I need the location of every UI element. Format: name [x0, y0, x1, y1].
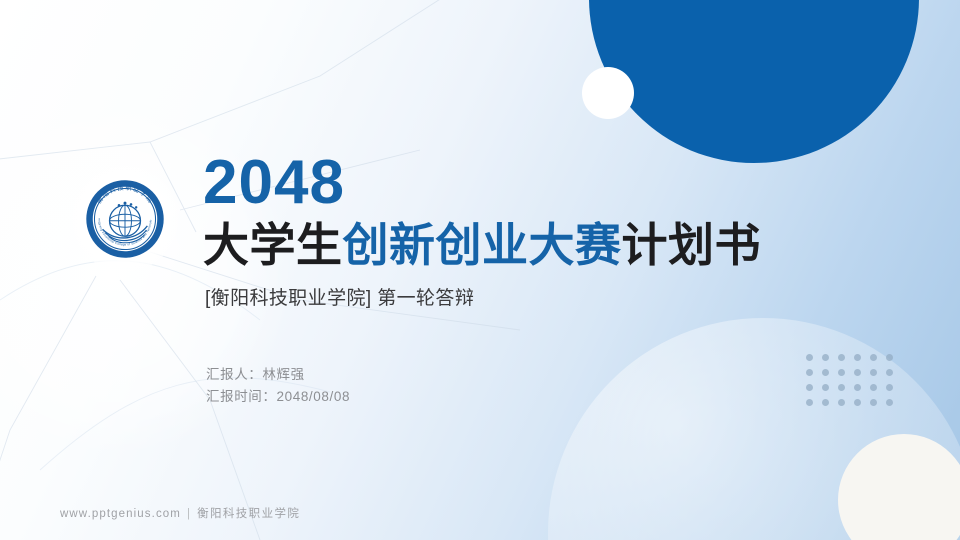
white-circle-decoration — [582, 67, 634, 119]
footer: www.pptgenius.com|衡阳科技职业学院 — [60, 506, 300, 522]
footer-organization: 衡阳科技职业学院 — [197, 508, 300, 520]
footer-separator: | — [187, 508, 191, 520]
school-emblem-icon: 衡阳科技职业学院 Hengyang Vocational College of … — [82, 176, 168, 262]
school-logo: 衡阳科技职业学院 Hengyang Vocational College of … — [72, 166, 178, 272]
subtitle: [衡阳科技职业学院] 第一轮答辩 — [205, 286, 843, 312]
title-lead: 大学生 — [203, 219, 343, 271]
presentation-date: 汇报时间：2048/08/08 — [206, 386, 843, 408]
presenter-name: 汇报人：林辉强 — [206, 364, 843, 386]
presenter-info: 汇报人：林辉强 汇报时间：2048/08/08 — [206, 364, 843, 408]
title-block: 2048 大学生创新创业大赛计划书 [衡阳科技职业学院] 第一轮答辩 汇报人：林… — [203, 150, 843, 408]
title-tail: 计划书 — [622, 219, 762, 271]
cream-circle-decoration — [838, 434, 960, 540]
footer-site: www.pptgenius.com — [60, 508, 181, 520]
title-accent: 创新创业大赛 — [343, 219, 622, 271]
page-title: 大学生创新创业大赛计划书 — [203, 216, 843, 274]
blue-circle-decoration — [589, 0, 919, 163]
year-heading: 2048 — [203, 150, 843, 216]
presentation-slide: 衡阳科技职业学院 Hengyang Vocational College of … — [0, 0, 960, 540]
